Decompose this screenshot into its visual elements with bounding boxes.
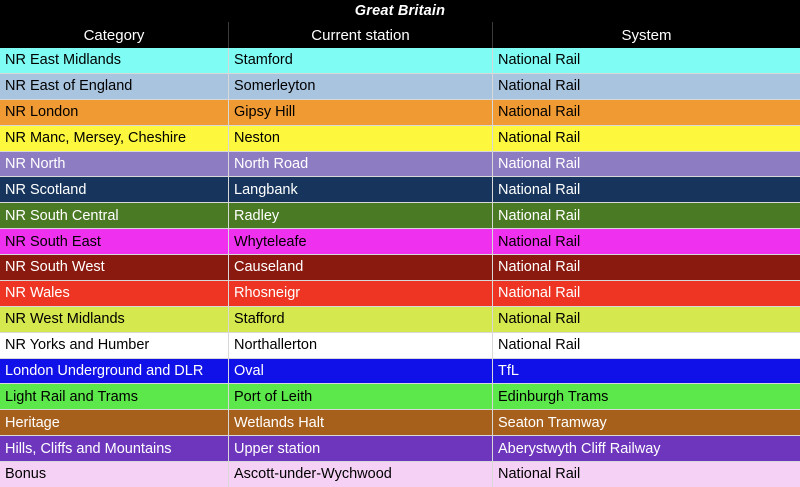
- cell-category[interactable]: NR London: [0, 100, 229, 125]
- cell-system[interactable]: National Rail: [493, 126, 800, 151]
- table-row[interactable]: NR East MidlandsStamfordNational Rail: [0, 48, 800, 74]
- cell-station-text: North Road: [234, 156, 308, 172]
- table-row[interactable]: NR Manc, Mersey, CheshireNestonNational …: [0, 126, 800, 152]
- cell-station[interactable]: Rhosneigr: [229, 281, 493, 306]
- cell-system[interactable]: TfL: [493, 359, 800, 384]
- cell-category-text: NR Wales: [5, 285, 70, 301]
- cell-category[interactable]: NR Manc, Mersey, Cheshire: [0, 126, 229, 151]
- cell-category-text: NR South Central: [5, 208, 119, 224]
- cell-station[interactable]: Stamford: [229, 48, 493, 73]
- cell-station-text: Gipsy Hill: [234, 104, 295, 120]
- cell-station[interactable]: Upper station: [229, 436, 493, 461]
- cell-category[interactable]: NR Wales: [0, 281, 229, 306]
- cell-category[interactable]: NR Yorks and Humber: [0, 333, 229, 358]
- cell-system-text: National Rail: [498, 130, 580, 146]
- table-row[interactable]: NR South WestCauselandNational Rail: [0, 255, 800, 281]
- cell-category[interactable]: Light Rail and Trams: [0, 384, 229, 409]
- column-header-category-label: Category: [84, 27, 145, 44]
- table-row[interactable]: NR NorthNorth RoadNational Rail: [0, 152, 800, 178]
- cell-system[interactable]: National Rail: [493, 333, 800, 358]
- cell-system[interactable]: National Rail: [493, 48, 800, 73]
- cell-category[interactable]: Heritage: [0, 410, 229, 435]
- table-row[interactable]: Hills, Cliffs and MountainsUpper station…: [0, 436, 800, 462]
- cell-station[interactable]: North Road: [229, 152, 493, 177]
- cell-station-text: Northallerton: [234, 337, 317, 353]
- cell-station[interactable]: Somerleyton: [229, 74, 493, 99]
- cell-category[interactable]: NR North: [0, 152, 229, 177]
- cell-station[interactable]: Gipsy Hill: [229, 100, 493, 125]
- cell-category[interactable]: NR South East: [0, 229, 229, 254]
- cell-category[interactable]: London Underground and DLR: [0, 359, 229, 384]
- cell-category-text: Hills, Cliffs and Mountains: [5, 441, 172, 457]
- cell-category-text: NR East Midlands: [5, 52, 121, 68]
- cell-station-text: Radley: [234, 208, 279, 224]
- table-row[interactable]: Light Rail and TramsPort of LeithEdinbur…: [0, 384, 800, 410]
- table-row[interactable]: BonusAscott-under-WychwoodNational Rail: [0, 462, 800, 487]
- cell-station[interactable]: Whyteleafe: [229, 229, 493, 254]
- cell-system[interactable]: National Rail: [493, 203, 800, 228]
- cell-system-text: National Rail: [498, 78, 580, 94]
- cell-category-text: NR West Midlands: [5, 311, 125, 327]
- cell-station[interactable]: Oval: [229, 359, 493, 384]
- cell-station[interactable]: Stafford: [229, 307, 493, 332]
- cell-system-text: Edinburgh Trams: [498, 389, 608, 405]
- cell-system[interactable]: National Rail: [493, 255, 800, 280]
- table-row[interactable]: NR Yorks and HumberNorthallertonNational…: [0, 333, 800, 359]
- table-row[interactable]: NR LondonGipsy HillNational Rail: [0, 100, 800, 126]
- cell-category-text: Bonus: [5, 466, 46, 482]
- cell-system-text: National Rail: [498, 182, 580, 198]
- cell-system[interactable]: National Rail: [493, 100, 800, 125]
- cell-system-text: National Rail: [498, 104, 580, 120]
- cell-system[interactable]: National Rail: [493, 281, 800, 306]
- cell-category[interactable]: NR East of England: [0, 74, 229, 99]
- cell-station-text: Causeland: [234, 259, 303, 275]
- cell-system[interactable]: National Rail: [493, 177, 800, 202]
- cell-station-text: Port of Leith: [234, 389, 312, 405]
- cell-station-text: Langbank: [234, 182, 298, 198]
- cell-system-text: National Rail: [498, 466, 580, 482]
- table-header-row: Category Current station System: [0, 22, 800, 48]
- table-row[interactable]: NR ScotlandLangbankNational Rail: [0, 177, 800, 203]
- great-britain-table: Great Britain Category Current station S…: [0, 0, 800, 487]
- cell-system-text: National Rail: [498, 285, 580, 301]
- cell-system-text: National Rail: [498, 156, 580, 172]
- cell-station-text: Whyteleafe: [234, 234, 307, 250]
- cell-category[interactable]: NR Scotland: [0, 177, 229, 202]
- column-header-current-station[interactable]: Current station: [229, 22, 493, 48]
- cell-category-text: NR East of England: [5, 78, 132, 94]
- cell-station-text: Neston: [234, 130, 280, 146]
- table-row[interactable]: NR East of EnglandSomerleytonNational Ra…: [0, 74, 800, 100]
- column-header-current-station-label: Current station: [311, 27, 409, 44]
- cell-category-text: NR Yorks and Humber: [5, 337, 149, 353]
- column-header-category[interactable]: Category: [0, 22, 229, 48]
- cell-station-text: Stafford: [234, 311, 285, 327]
- table-row[interactable]: NR South CentralRadleyNational Rail: [0, 203, 800, 229]
- cell-category[interactable]: Hills, Cliffs and Mountains: [0, 436, 229, 461]
- cell-category[interactable]: NR South Central: [0, 203, 229, 228]
- page-title: Great Britain: [355, 3, 445, 19]
- cell-category[interactable]: NR South West: [0, 255, 229, 280]
- table-row[interactable]: London Underground and DLROvalTfL: [0, 359, 800, 385]
- cell-system-text: Aberystwyth Cliff Railway: [498, 441, 661, 457]
- cell-system-text: National Rail: [498, 337, 580, 353]
- cell-system-text: National Rail: [498, 259, 580, 275]
- cell-station-text: Oval: [234, 363, 264, 379]
- cell-category-text: NR North: [5, 156, 65, 172]
- cell-system-text: National Rail: [498, 208, 580, 224]
- cell-category[interactable]: NR West Midlands: [0, 307, 229, 332]
- cell-system[interactable]: Aberystwyth Cliff Railway: [493, 436, 800, 461]
- cell-system[interactable]: National Rail: [493, 307, 800, 332]
- table-row[interactable]: NR West MidlandsStaffordNational Rail: [0, 307, 800, 333]
- table-body: NR East MidlandsStamfordNational RailNR …: [0, 48, 800, 487]
- cell-system[interactable]: National Rail: [493, 462, 800, 487]
- cell-system[interactable]: Edinburgh Trams: [493, 384, 800, 409]
- cell-category-text: NR South East: [5, 234, 101, 250]
- table-title-bar: Great Britain: [0, 0, 800, 22]
- cell-system-text: National Rail: [498, 311, 580, 327]
- cell-station[interactable]: Radley: [229, 203, 493, 228]
- cell-station-text: Ascott-under-Wychwood: [234, 466, 392, 482]
- cell-station[interactable]: Neston: [229, 126, 493, 151]
- cell-station[interactable]: Langbank: [229, 177, 493, 202]
- column-header-system-label: System: [621, 27, 671, 44]
- cell-station-text: Somerleyton: [234, 78, 315, 94]
- cell-category-text: NR Scotland: [5, 182, 86, 198]
- cell-system-text: National Rail: [498, 52, 580, 68]
- table-row[interactable]: NR WalesRhosneigrNational Rail: [0, 281, 800, 307]
- table-row[interactable]: HeritageWetlands HaltSeaton Tramway: [0, 410, 800, 436]
- cell-station-text: Stamford: [234, 52, 293, 68]
- cell-system-text: TfL: [498, 363, 519, 379]
- cell-category[interactable]: Bonus: [0, 462, 229, 487]
- cell-station[interactable]: Port of Leith: [229, 384, 493, 409]
- cell-system-text: Seaton Tramway: [498, 415, 607, 431]
- table-row[interactable]: NR South EastWhyteleafeNational Rail: [0, 229, 800, 255]
- cell-station-text: Upper station: [234, 441, 320, 457]
- cell-category-text: NR Manc, Mersey, Cheshire: [5, 130, 186, 146]
- cell-station[interactable]: Wetlands Halt: [229, 410, 493, 435]
- cell-category[interactable]: NR East Midlands: [0, 48, 229, 73]
- cell-station[interactable]: Ascott-under-Wychwood: [229, 462, 493, 487]
- cell-system[interactable]: National Rail: [493, 74, 800, 99]
- cell-system[interactable]: Seaton Tramway: [493, 410, 800, 435]
- cell-category-text: NR London: [5, 104, 78, 120]
- cell-category-text: London Underground and DLR: [5, 363, 203, 379]
- cell-station-text: Rhosneigr: [234, 285, 300, 301]
- cell-station[interactable]: Causeland: [229, 255, 493, 280]
- cell-category-text: Heritage: [5, 415, 60, 431]
- cell-category-text: Light Rail and Trams: [5, 389, 138, 405]
- cell-system[interactable]: National Rail: [493, 229, 800, 254]
- cell-system-text: National Rail: [498, 234, 580, 250]
- column-header-system[interactable]: System: [493, 22, 800, 48]
- cell-category-text: NR South West: [5, 259, 105, 275]
- cell-station[interactable]: Northallerton: [229, 333, 493, 358]
- cell-system[interactable]: National Rail: [493, 152, 800, 177]
- cell-station-text: Wetlands Halt: [234, 415, 324, 431]
